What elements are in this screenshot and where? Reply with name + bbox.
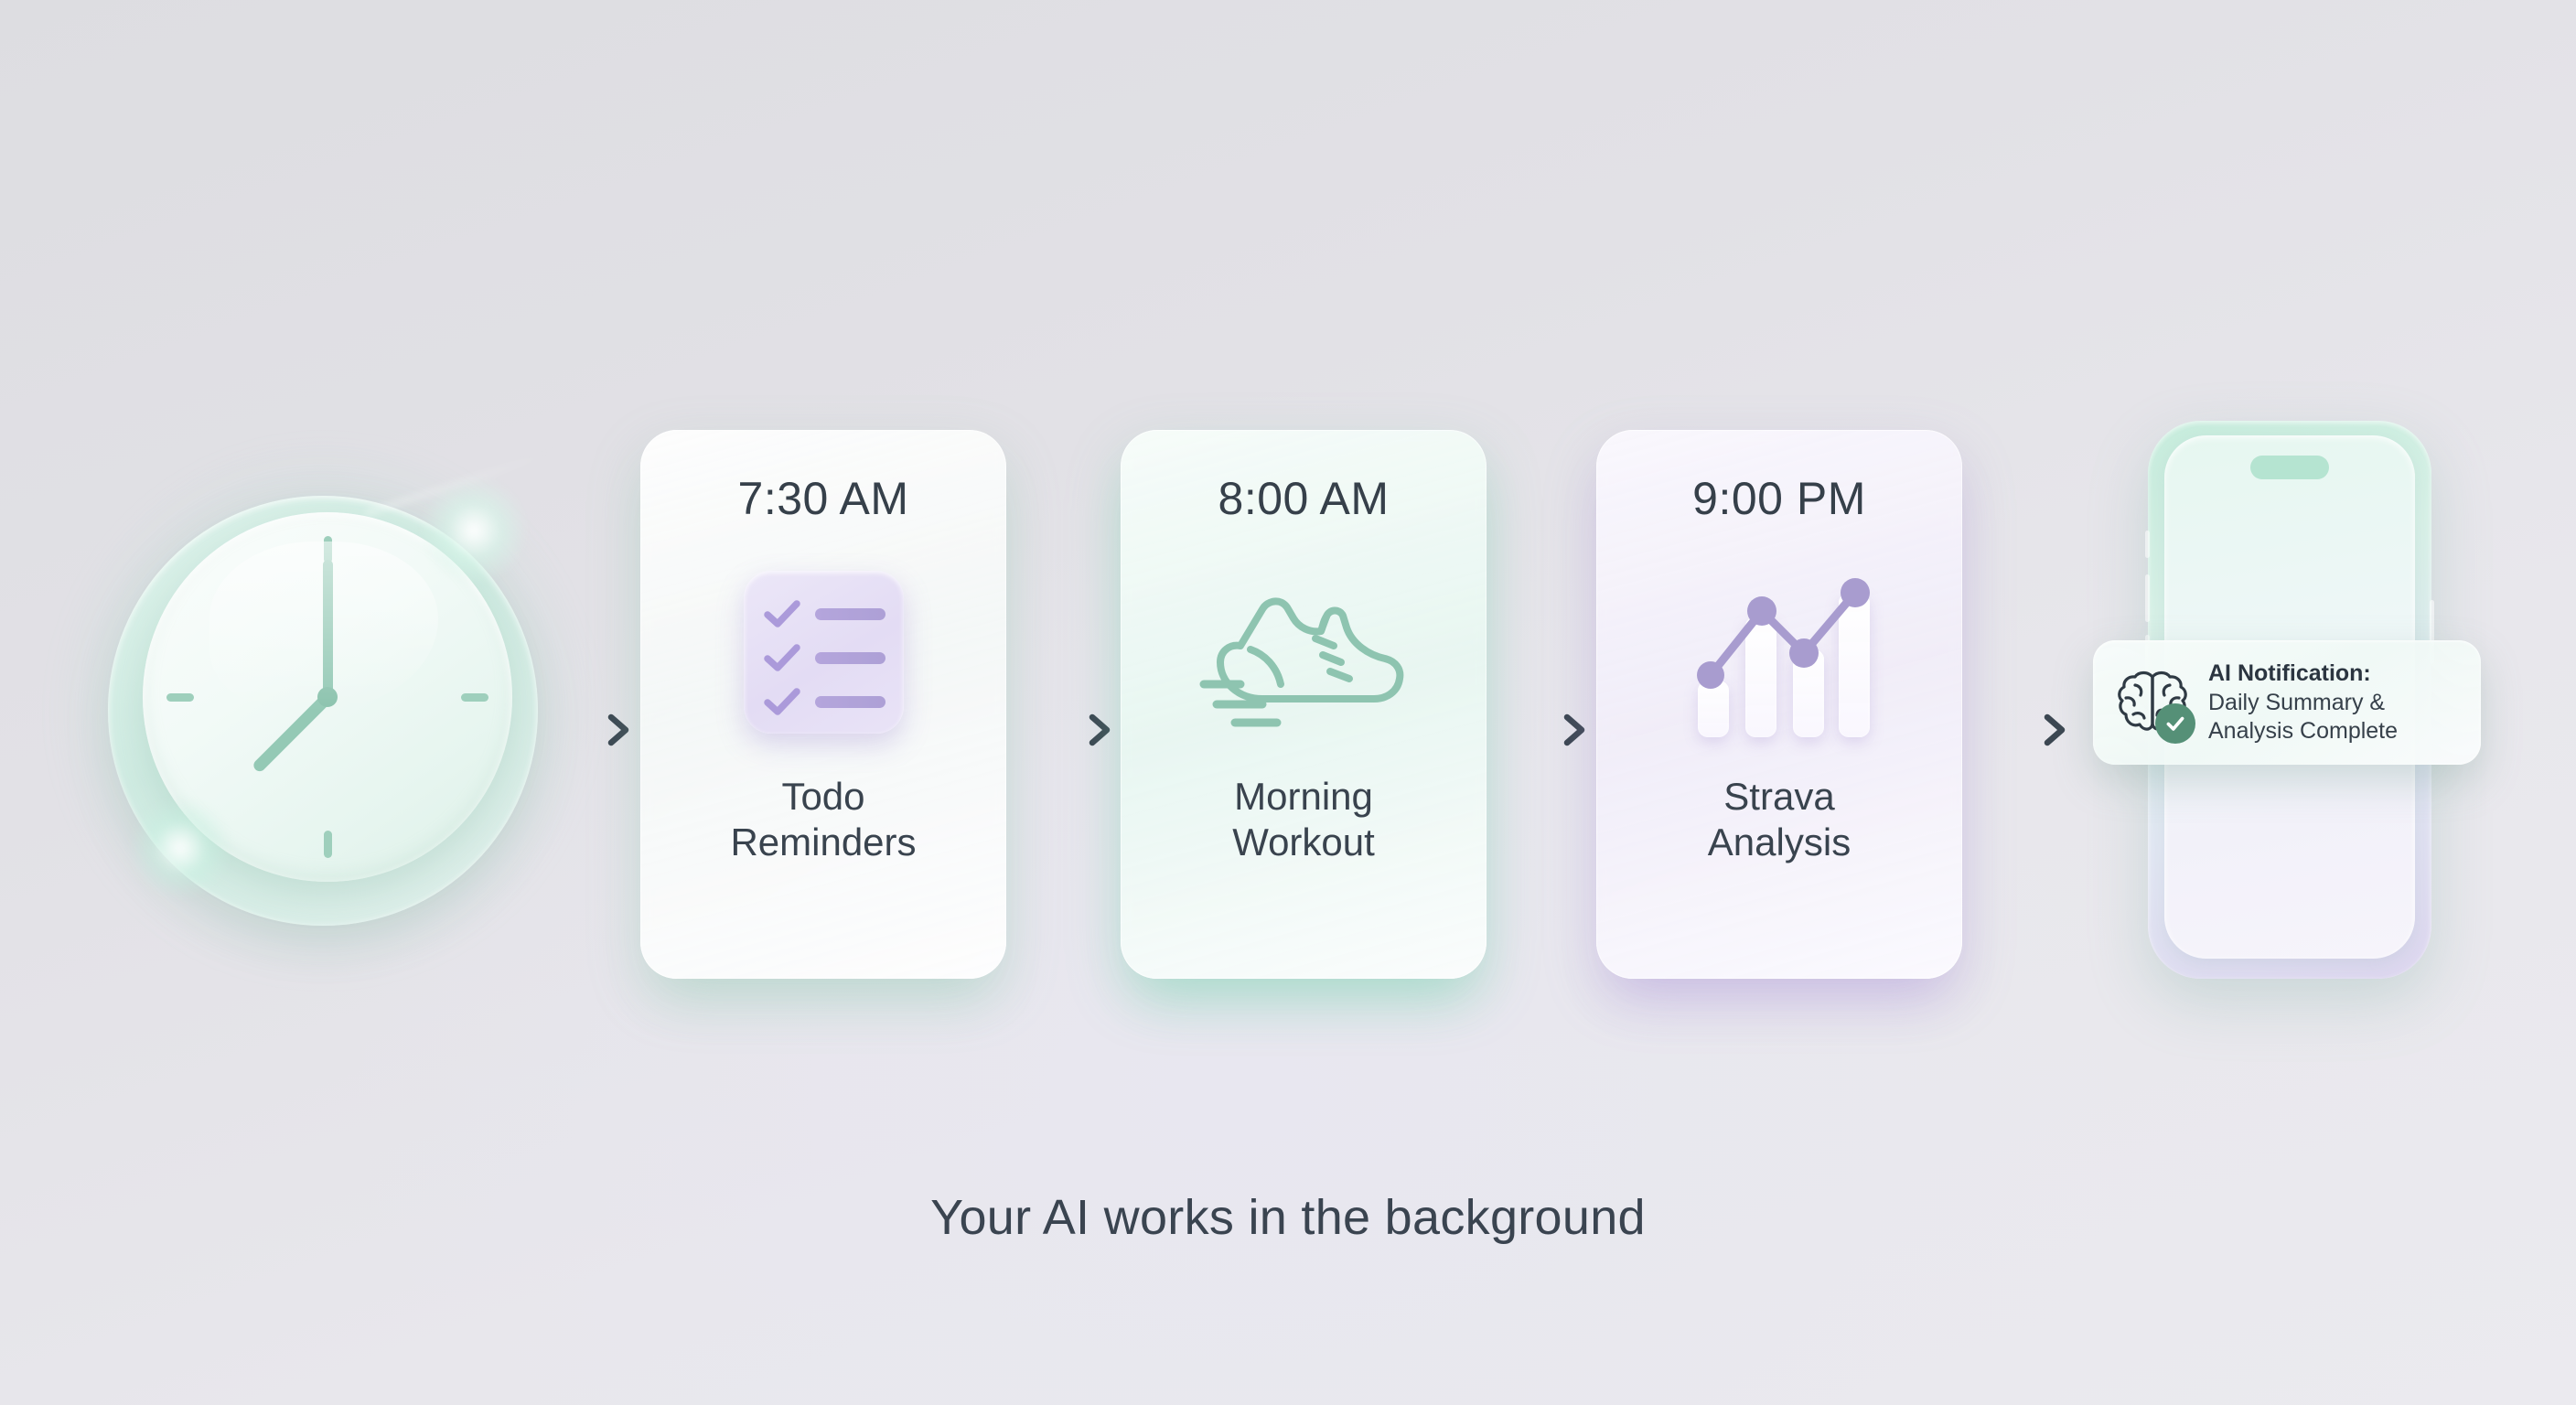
arrow-clock-to-step1 <box>531 710 639 750</box>
step-label: Morning Workout <box>1232 774 1375 864</box>
step-label: Todo Reminders <box>730 774 916 864</box>
step-label-line1: Strava <box>1708 774 1851 820</box>
step-label: Strava Analysis <box>1708 774 1851 864</box>
step-label-line2: Analysis <box>1708 820 1851 865</box>
notification-line-2: Daily Summary & <box>2208 689 2398 717</box>
running-shoe-icon <box>1198 565 1409 739</box>
checklist-icon <box>736 565 910 739</box>
arrow-step2-to-step3 <box>1487 710 1594 750</box>
checklist-row <box>764 598 885 629</box>
step-time-label: 7:30 AM <box>738 472 909 525</box>
clock-face <box>143 512 512 882</box>
step-label-line2: Workout <box>1232 820 1375 865</box>
clock-tick-3 <box>461 693 488 702</box>
clock-minute-hand <box>323 560 333 697</box>
clock-tick-6 <box>324 831 332 858</box>
clock-tick-12 <box>324 536 332 563</box>
check-circle-icon <box>2155 703 2195 744</box>
dynamic-island <box>2250 456 2329 479</box>
check-icon <box>764 687 800 716</box>
clock-center-cap <box>317 687 338 707</box>
checklist-row <box>764 642 885 673</box>
bar-chart-line-icon <box>1692 565 1866 739</box>
step-time-label: 8:00 AM <box>1218 472 1390 525</box>
checklist-row <box>764 686 885 717</box>
notification-title: AI Notification: <box>2208 660 2398 688</box>
step-card-morning-workout[interactable]: 8:00 AM Morning Workout <box>1121 430 1487 979</box>
phone-mute-switch[interactable] <box>2145 531 2150 558</box>
arrow-step1-to-step2 <box>1012 710 1120 750</box>
check-icon <box>764 599 800 628</box>
step-card-strava-analysis[interactable]: 9:00 PM Strava Analysis <box>1596 430 1962 979</box>
clock-hour-hand <box>251 692 331 773</box>
step-label-line1: Morning <box>1232 774 1375 820</box>
ai-notification-card[interactable]: AI Notification: Daily Summary & Analysi… <box>2093 640 2481 765</box>
brain-icon <box>2113 667 2192 738</box>
clock-tick-9 <box>166 693 194 702</box>
step-label-line2: Reminders <box>730 820 916 865</box>
page-caption: Your AI works in the background <box>0 1189 2576 1246</box>
check-icon <box>764 643 800 672</box>
notification-line-3: Analysis Complete <box>2208 717 2398 745</box>
clock-icon <box>108 496 538 926</box>
step-card-todo-reminders[interactable]: 7:30 AM Todo Reminders <box>640 430 1006 979</box>
diagram-stage: 7:30 AM Todo Reminders <box>0 0 2576 1405</box>
step-time-label: 9:00 PM <box>1692 472 1866 525</box>
phone-volume-up-button[interactable] <box>2145 574 2150 622</box>
step-label-line1: Todo <box>730 774 916 820</box>
arrow-step3-to-phone <box>1967 710 2075 750</box>
chart-trend-line <box>1692 567 1875 737</box>
notification-text: AI Notification: Daily Summary & Analysi… <box>2208 660 2398 745</box>
